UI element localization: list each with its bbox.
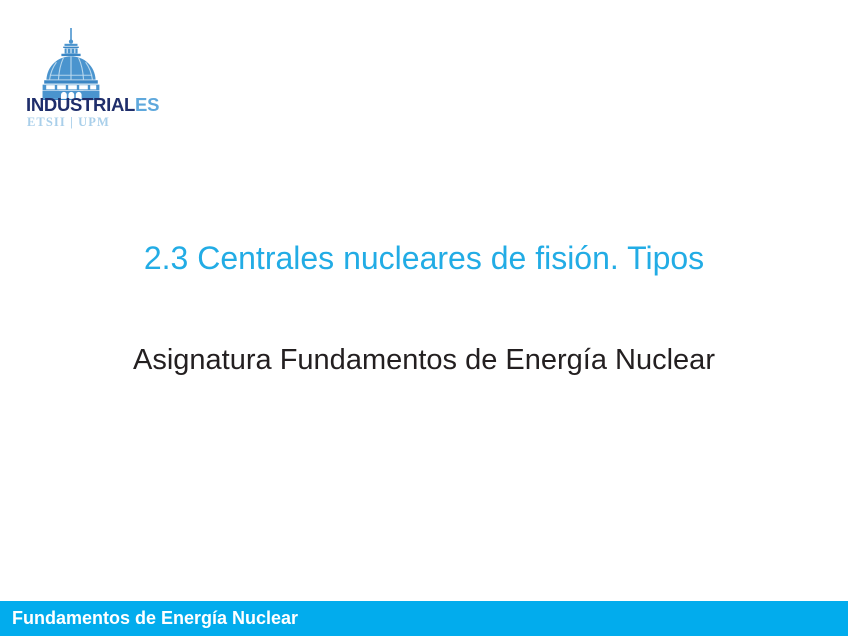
logo-wordmark-primary: INDUSTRIAL	[26, 94, 135, 115]
slide-subtitle: Asignatura Fundamentos de Energía Nuclea…	[0, 340, 848, 380]
footer-bar: Fundamentos de Energía Nuclear	[0, 601, 848, 636]
institution-logo: INDUSTRIALES ETSII | UPM	[26, 28, 176, 132]
slide-canvas: INDUSTRIALES ETSII | UPM 2.3 Centrales n…	[0, 0, 848, 636]
logo-wordmark-secondary: ES	[135, 94, 159, 115]
dome-building-icon	[30, 28, 112, 100]
logo-subwordmark: ETSII | UPM	[27, 114, 177, 130]
logo-wordmark: INDUSTRIALES	[26, 94, 176, 116]
footer-label: Fundamentos de Energía Nuclear	[12, 601, 298, 636]
slide-title: 2.3 Centrales nucleares de fisión. Tipos	[0, 236, 848, 280]
